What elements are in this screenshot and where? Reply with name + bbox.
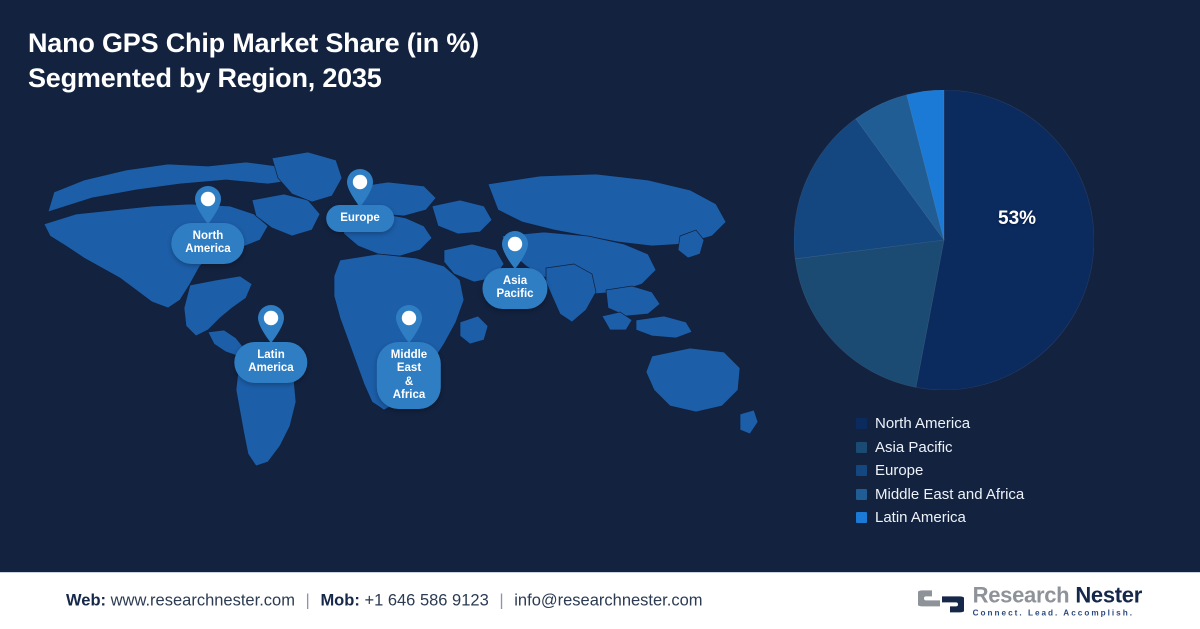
pie-slices <box>794 90 1094 390</box>
footer-web-value[interactable]: www.researchnester.com <box>111 592 295 610</box>
location-pin-icon <box>256 304 286 344</box>
legend-label: Latin America <box>875 510 966 525</box>
logo-mark-icon <box>918 586 964 616</box>
footer-bar: Web: www.researchnester.com | Mob: +1 64… <box>0 572 1200 629</box>
legend-item-asia-pacific[interactable]: Asia Pacific <box>856 436 1024 460</box>
map-pin-label: Europe <box>326 205 394 232</box>
legend-item-europe[interactable]: Europe <box>856 459 1024 483</box>
legend-item-latin-america[interactable]: Latin America <box>856 506 1024 530</box>
legend-item-north-america[interactable]: North America <box>856 412 1024 436</box>
page-title: Nano GPS Chip Market Share (in %) Segmen… <box>28 26 479 96</box>
logo-name: ResearchNester <box>973 584 1142 606</box>
legend-swatch-icon <box>856 512 867 523</box>
map-pin-latin-america[interactable]: Latin America <box>224 304 318 394</box>
logo-tagline: Connect. Lead. Accomplish. <box>973 609 1142 617</box>
footer-contact-info: Web: www.researchnester.com | Mob: +1 64… <box>66 592 703 611</box>
legend-label: Asia Pacific <box>875 440 953 455</box>
legend-swatch-icon <box>856 418 867 429</box>
location-pin-icon <box>500 230 530 270</box>
map-pin-label: North America <box>171 223 244 264</box>
map-pin-north-america[interactable]: North America <box>160 185 256 275</box>
legend-swatch-icon <box>856 442 867 453</box>
infographic-canvas: Nano GPS Chip Market Share (in %) Segmen… <box>0 0 1200 628</box>
logo-name-part1: Research <box>973 582 1070 607</box>
legend-swatch-icon <box>856 489 867 500</box>
footer-mob-label: Mob: <box>320 592 359 610</box>
legend-label: North America <box>875 416 970 431</box>
world-map-panel: North America Europe Asia Pacific Lati <box>40 140 760 470</box>
footer-web-label: Web: <box>66 592 106 610</box>
research-nester-logo[interactable]: ResearchNester Connect. Lead. Accomplish… <box>918 584 1142 617</box>
map-pin-middle-east-africa[interactable]: Middle East & Africa <box>348 304 470 394</box>
logo-name-part2: Nester <box>1069 582 1142 607</box>
location-pin-icon <box>193 185 223 225</box>
location-pin-icon <box>394 304 424 344</box>
location-pin-icon <box>345 168 375 208</box>
pie-slice-label-north-america: 53% <box>998 208 1036 230</box>
chart-legend: North America Asia Pacific Europe Middle… <box>856 412 1024 530</box>
pie-chart: 53% <box>772 68 1116 412</box>
map-pin-label: Middle East & Africa <box>377 342 441 409</box>
legend-swatch-icon <box>856 465 867 476</box>
footer-mob-value[interactable]: +1 646 586 9123 <box>364 592 488 610</box>
map-pin-europe[interactable]: Europe <box>322 168 398 252</box>
logo-text: ResearchNester Connect. Lead. Accomplish… <box>973 584 1142 617</box>
map-pin-label: Asia Pacific <box>482 268 547 309</box>
legend-label: Middle East and Africa <box>875 487 1024 502</box>
footer-separator: | <box>493 592 509 610</box>
map-pin-label: Latin America <box>234 342 307 383</box>
footer-separator: | <box>300 592 316 610</box>
footer-email[interactable]: info@researchnester.com <box>514 592 702 610</box>
legend-label: Europe <box>875 463 923 478</box>
map-pin-asia-pacific[interactable]: Asia Pacific <box>474 230 556 320</box>
legend-item-middle-east-and-africa[interactable]: Middle East and Africa <box>856 483 1024 507</box>
